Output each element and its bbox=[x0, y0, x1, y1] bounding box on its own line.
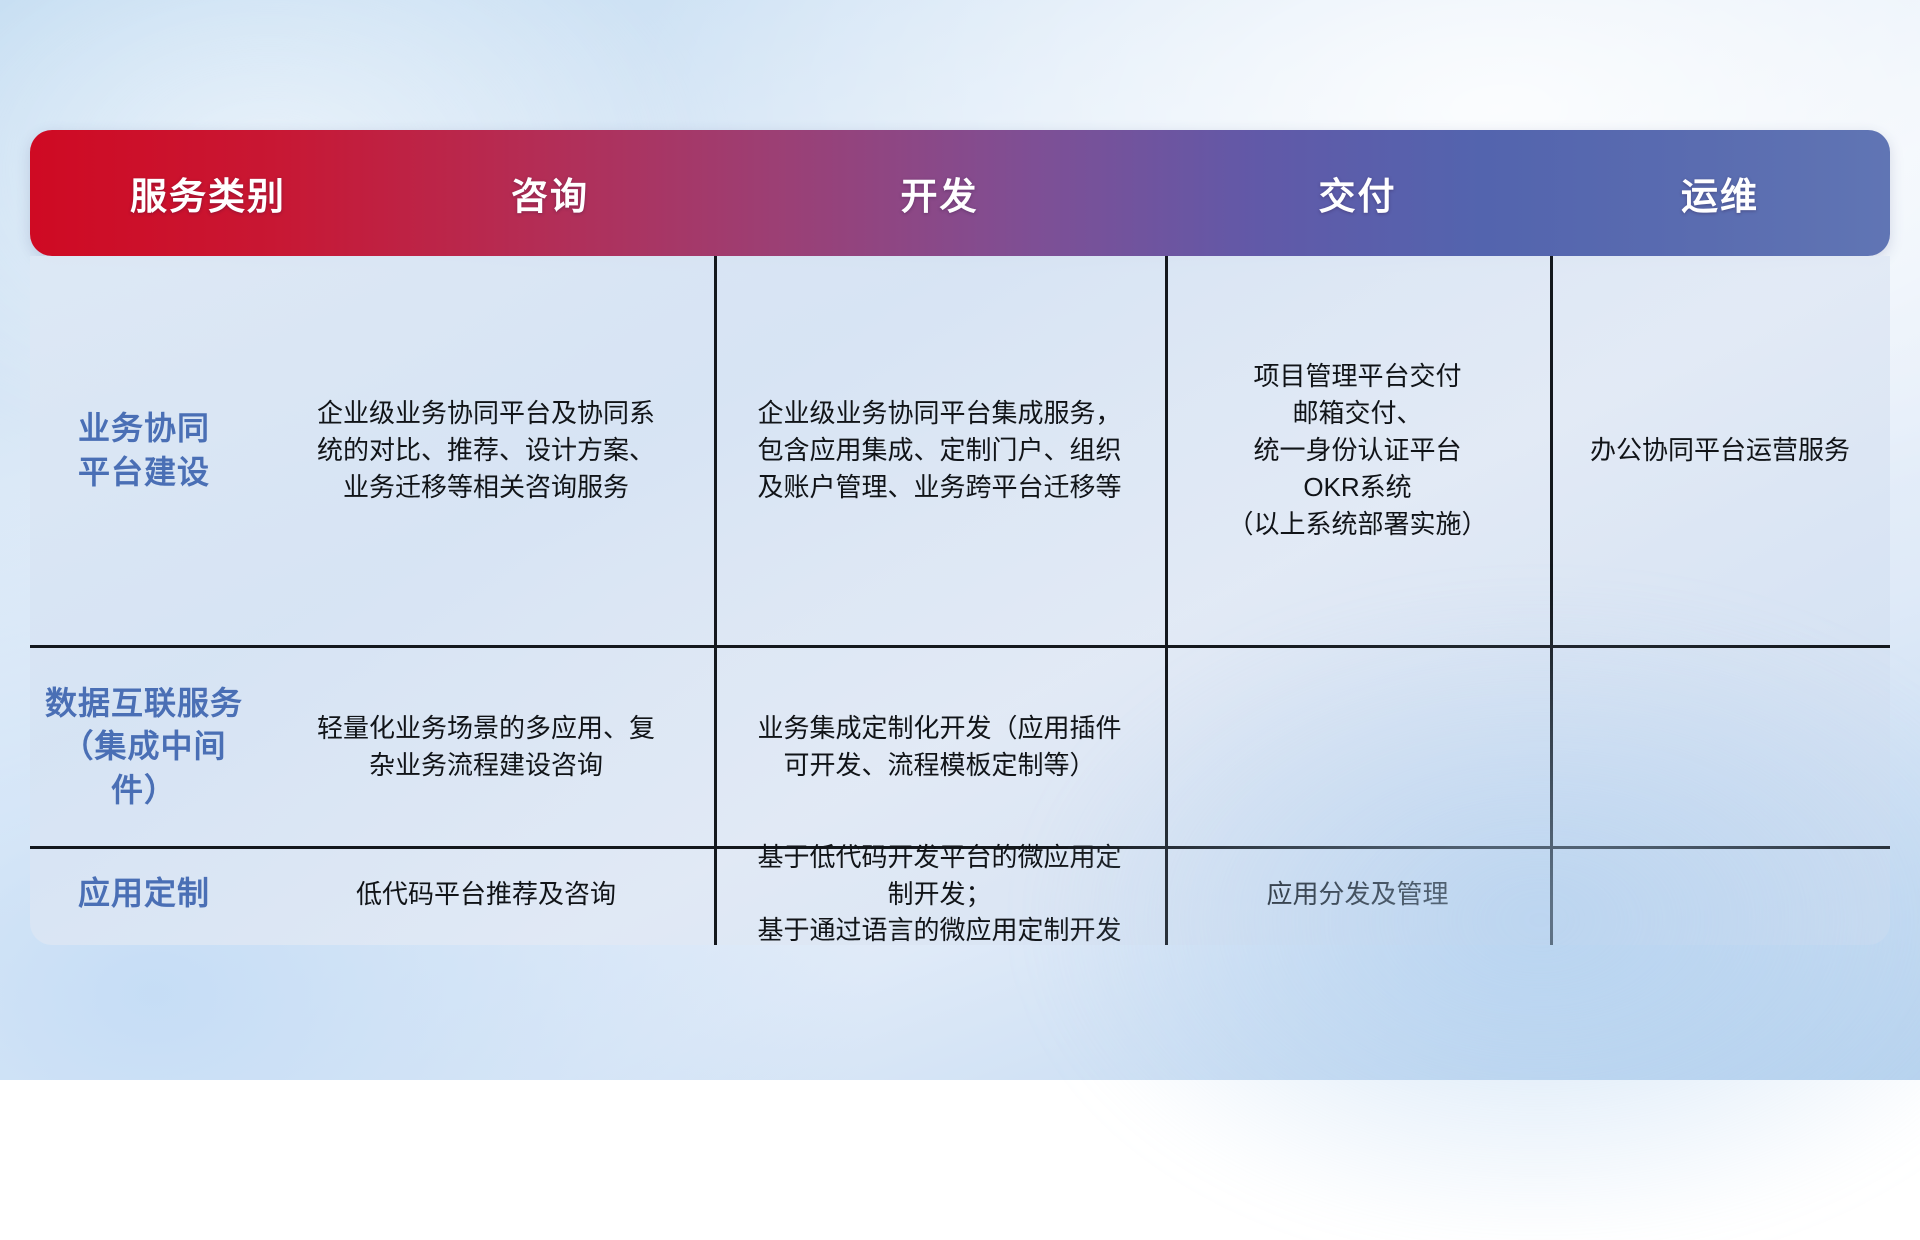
column-header-delivery: 交付 bbox=[1165, 166, 1550, 220]
column-header-category: 服务类别 bbox=[30, 166, 386, 220]
cell-r3-delivery: 应用分发及管理 bbox=[1165, 779, 1550, 945]
table-row: 业务协同 平台建设 企业级业务协同平台及协同系 统的对比、推荐、设计方案、 业务… bbox=[30, 256, 1890, 645]
table-row: 应用定制 低代码平台推荐及咨询 基于低代码开发平台的微应用定 制开发； 基于通过… bbox=[30, 849, 1890, 945]
column-header-operations: 运维 bbox=[1550, 166, 1890, 220]
cell-r1-consulting: 企业级业务协同平台及协同系 统的对比、推荐、设计方案、 业务迁移等相关咨询服务 bbox=[258, 256, 714, 645]
table-header-row: 服务类别 咨询 开发 交付 运维 bbox=[30, 130, 1890, 256]
row-label-app-customization: 应用定制 bbox=[30, 779, 258, 945]
row-label-business-collaboration: 业务协同 平台建设 bbox=[30, 256, 258, 645]
cell-r1-delivery: 项目管理平台交付 邮箱交付、 统一身份认证平台 OKR系统 （以上系统部署实施） bbox=[1165, 256, 1550, 645]
cell-r3-operations bbox=[1550, 779, 1890, 945]
slide-canvas: 服务类别 咨询 开发 交付 运维 业务协同 平台建设 企业级业务协同平台及协同系… bbox=[0, 0, 1920, 1080]
cell-r1-development: 企业级业务协同平台集成服务， 包含应用集成、定制门户、组织 及账户管理、业务跨平… bbox=[714, 256, 1165, 645]
column-header-consulting: 咨询 bbox=[386, 166, 714, 220]
cell-r3-consulting: 低代码平台推荐及咨询 bbox=[258, 779, 714, 945]
cell-r3-development: 基于低代码开发平台的微应用定 制开发； 基于通过语言的微应用定制开发 bbox=[714, 779, 1165, 945]
service-matrix-table: 服务类别 咨询 开发 交付 运维 业务协同 平台建设 企业级业务协同平台及协同系… bbox=[30, 130, 1890, 945]
column-header-development: 开发 bbox=[714, 166, 1165, 220]
table-body: 业务协同 平台建设 企业级业务协同平台及协同系 统的对比、推荐、设计方案、 业务… bbox=[30, 256, 1890, 945]
cell-r1-operations: 办公协同平台运营服务 bbox=[1550, 256, 1890, 645]
